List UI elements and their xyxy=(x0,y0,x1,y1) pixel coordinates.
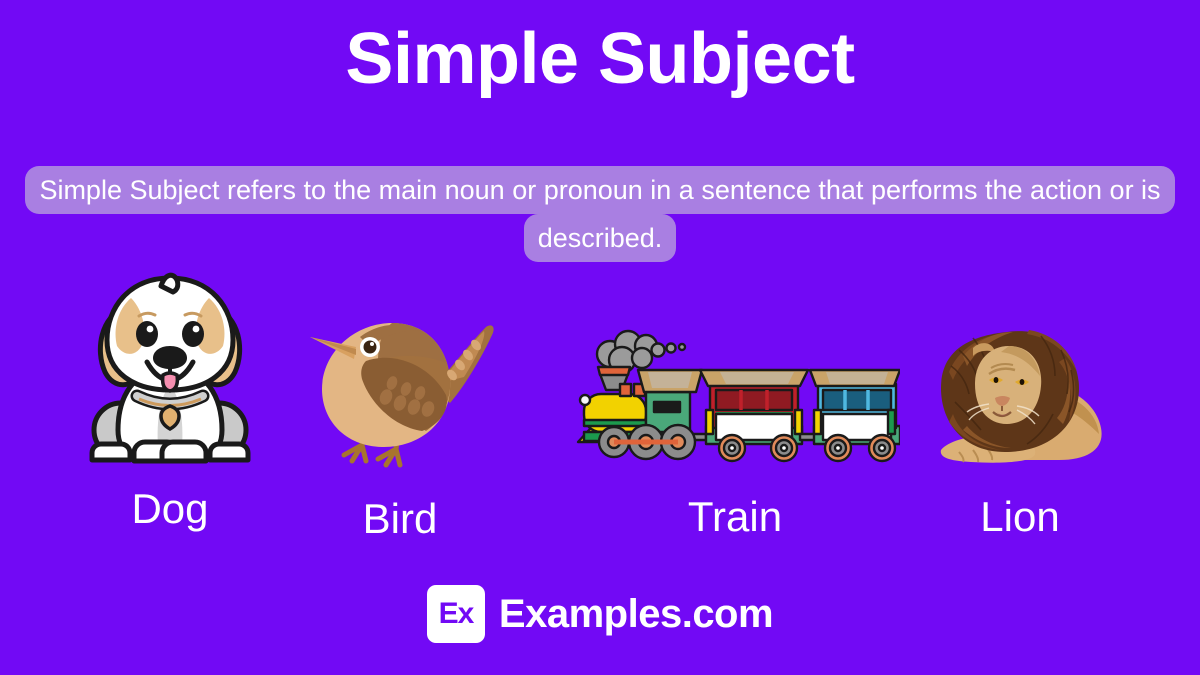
bird-art xyxy=(290,272,510,472)
site-logo[interactable]: Ex Examples.com xyxy=(0,585,1200,643)
train-art xyxy=(545,272,925,472)
lion-illustration xyxy=(933,322,1108,472)
page-title: Simple Subject xyxy=(0,22,1200,98)
example-label-train: Train xyxy=(545,496,925,538)
train-illustration xyxy=(570,322,900,472)
examples-row: Dog xyxy=(0,272,1200,547)
example-item-train: Train xyxy=(545,272,925,538)
lion-art xyxy=(925,272,1115,472)
example-item-lion: Lion xyxy=(925,272,1115,538)
dog-illustration xyxy=(85,272,255,472)
dog-art xyxy=(55,272,285,472)
example-item-dog: Dog xyxy=(55,272,285,530)
bird-illustration xyxy=(300,307,500,472)
example-label-dog: Dog xyxy=(55,488,285,530)
description-block: Simple Subject refers to the main noun o… xyxy=(0,166,1200,262)
logo-mark-ex: Ex xyxy=(427,585,485,643)
logo-wordmark: Examples.com xyxy=(499,592,773,637)
example-label-bird: Bird xyxy=(290,498,510,540)
example-label-lion: Lion xyxy=(925,496,1115,538)
example-item-bird: Bird xyxy=(290,272,510,540)
slide-root: Simple Subject Simple Subject refers to … xyxy=(0,0,1200,675)
description-text: Simple Subject refers to the main noun o… xyxy=(25,166,1174,262)
